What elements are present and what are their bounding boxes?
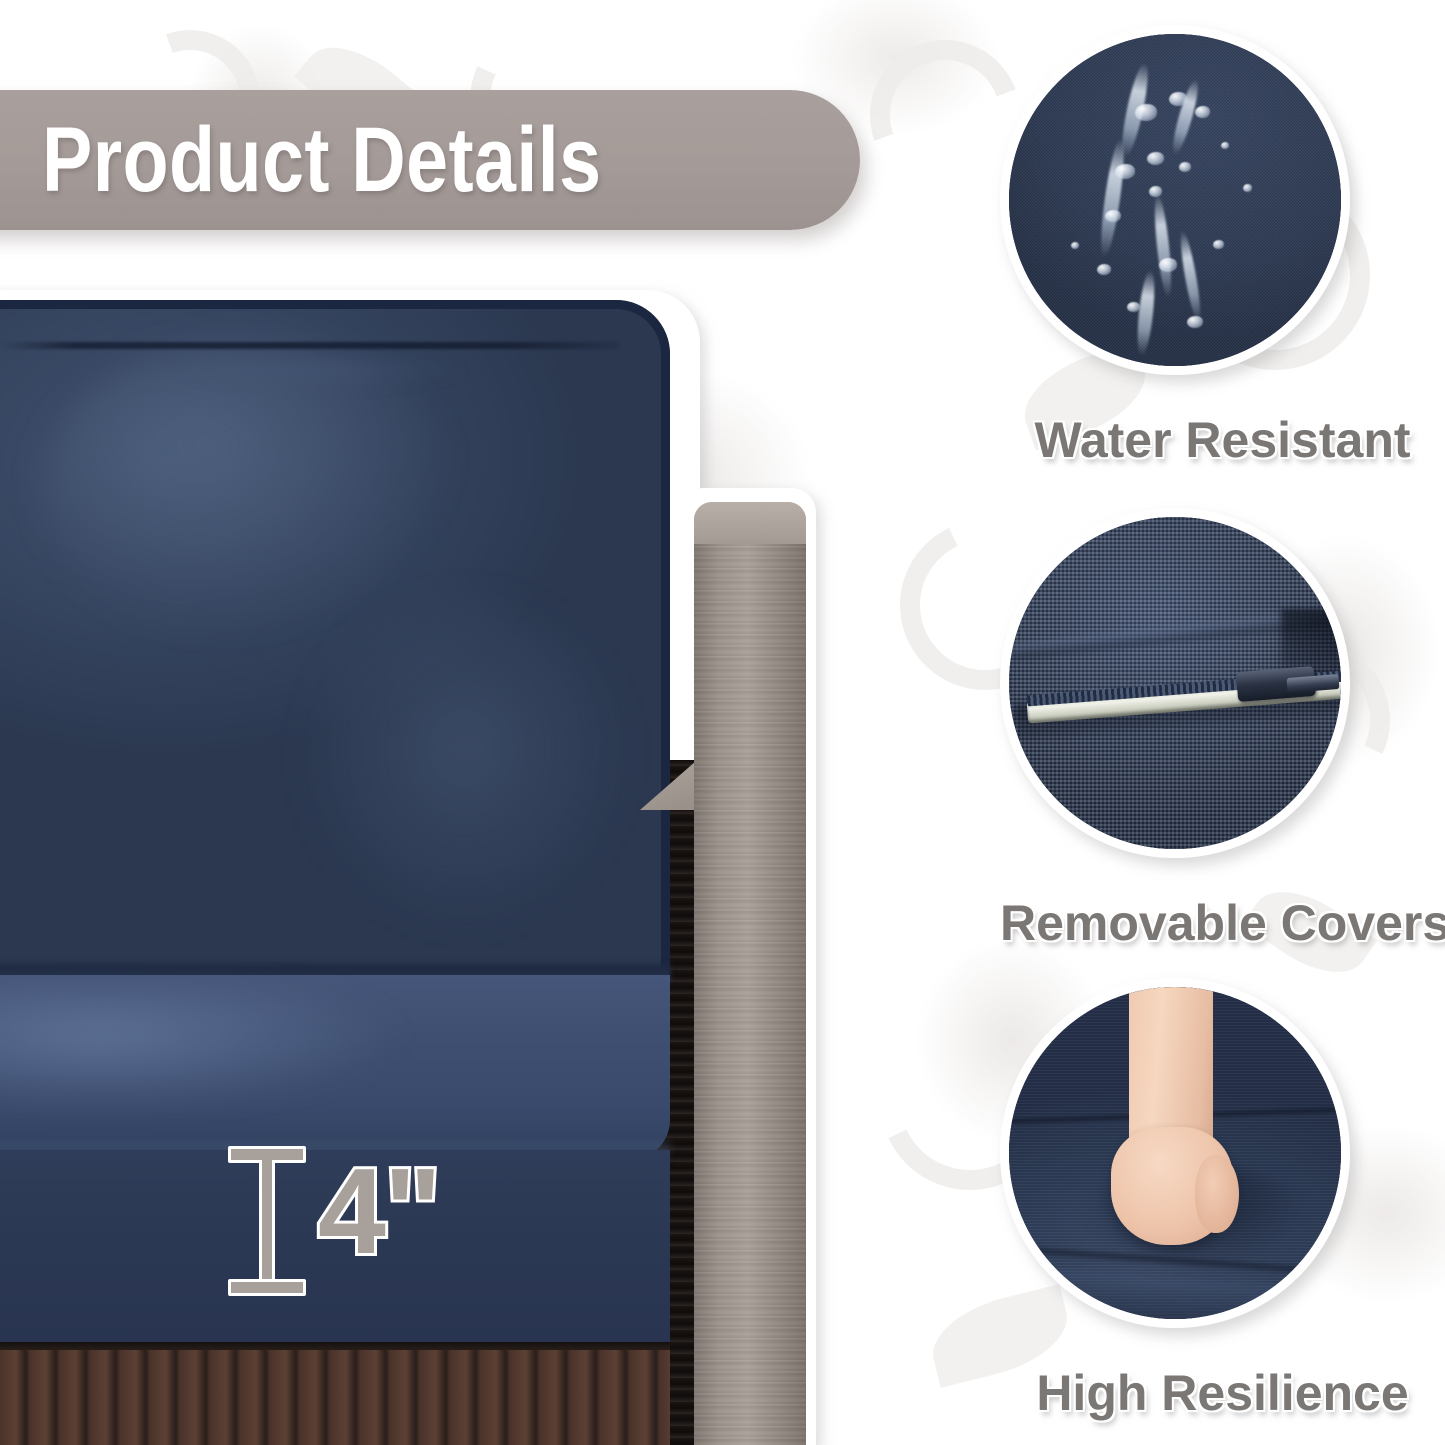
armrest-top-surface <box>694 502 806 544</box>
product-details-banner: Product Details <box>0 90 860 230</box>
water-droplet <box>1071 242 1079 249</box>
fist-knuckles <box>1195 1155 1239 1233</box>
feature-label-high-resilience: High Resilience <box>1000 1368 1445 1418</box>
product-details-page: Product Details 4" <box>0 0 1445 1445</box>
feature-high-resilience: High Resilience <box>1000 978 1350 1328</box>
water-droplet <box>1127 302 1140 312</box>
page-title: Product Details <box>42 114 602 206</box>
water-droplet <box>1195 106 1210 118</box>
feature-label-water-resistant: Water Resistant <box>1000 415 1445 465</box>
water-droplet <box>1243 184 1252 192</box>
back-cushion-highlight-2 <box>300 600 630 930</box>
feature-label-removable-covers: Removable Covers <box>1000 898 1445 948</box>
water-droplet <box>1147 152 1164 165</box>
water-droplet <box>1213 240 1224 249</box>
water-droplet <box>1115 164 1135 179</box>
water-droplet <box>1187 316 1203 328</box>
water-droplet <box>1159 258 1177 272</box>
hand-pressing-cushion-circle <box>1000 978 1350 1328</box>
feature-removable-covers: Removable Covers <box>1000 508 1350 858</box>
dimension-line <box>259 1160 275 1282</box>
thickness-value-label: 4" <box>318 1150 440 1272</box>
cushion-fold-crease <box>170 356 470 390</box>
dimension-cap-bottom <box>228 1279 306 1296</box>
thickness-dimension-marker <box>228 1146 300 1296</box>
feature-water-resistant: Water Resistant <box>1000 25 1350 375</box>
wicker-base <box>0 1350 670 1445</box>
water-droplet <box>1135 104 1157 121</box>
water-droplet <box>1105 210 1121 222</box>
water-droplet <box>1169 92 1187 106</box>
zipper-on-navy-cushion-circle <box>1000 508 1350 858</box>
water-droplets-on-navy-fabric-circle <box>1000 25 1350 375</box>
wooden-armrest <box>694 502 806 1445</box>
water-droplet <box>1221 142 1229 149</box>
water-droplet <box>1097 264 1111 275</box>
seat-cushion-highlight <box>0 988 400 1108</box>
navy-canvas-texture <box>1009 34 1341 366</box>
cushion-top-seam <box>0 342 620 349</box>
water-droplet <box>1179 162 1191 172</box>
water-droplet <box>1149 186 1162 197</box>
